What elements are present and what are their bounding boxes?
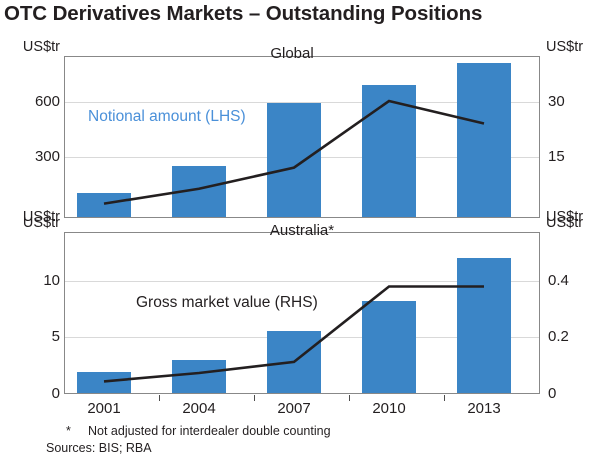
page-title: OTC Derivatives Markets – Outstanding Po… — [4, 2, 598, 26]
xtick-2004: 2004 — [159, 400, 239, 417]
top-panel-right-unit: US$tr — [546, 39, 600, 55]
bottom-panel-left-tick-0: 0 — [4, 385, 60, 402]
top-panel-left-tick-600: 600 — [4, 93, 60, 110]
footnote-marker: * — [66, 424, 71, 438]
bottom-panel-right-tick-02: 0.2 — [548, 328, 598, 345]
bottom-panel-left-unit: US$tr — [4, 215, 60, 231]
global-panel-frame — [64, 56, 540, 218]
xtick-2010: 2010 — [349, 400, 429, 417]
chart-figure: OTC Derivatives Markets – Outstanding Po… — [0, 0, 600, 465]
notional-amount-legend-label: Notional amount (LHS) — [88, 108, 246, 126]
gross-market-value-legend-label: Gross market value (RHS) — [136, 294, 318, 312]
bottom-panel-left-tick-10: 10 — [4, 272, 60, 289]
bottom-panel-right-tick-0: 0 — [548, 385, 598, 402]
australia-panel-title: Australia* — [232, 222, 372, 239]
sources-text: Sources: BIS; RBA — [46, 441, 152, 455]
xtick-2013: 2013 — [444, 400, 524, 417]
footnote-text: Not adjusted for interdealer double coun… — [88, 424, 331, 438]
top-panel-right-tick-15: 15 — [548, 148, 598, 165]
xtick-2001: 2001 — [64, 400, 144, 417]
top-panel-left-tick-300: 300 — [4, 148, 60, 165]
top-panel-left-unit: US$tr — [4, 39, 60, 55]
australia-panel-frame — [64, 232, 540, 394]
australia-panel — [64, 232, 540, 394]
bottom-panel-left-tick-5: 5 — [4, 328, 60, 345]
bottom-panel-right-unit: US$tr — [546, 215, 600, 231]
global-panel-title: Global — [232, 45, 352, 62]
bottom-panel-right-tick-04: 0.4 — [548, 272, 598, 289]
top-panel-right-tick-30: 30 — [548, 93, 598, 110]
global-panel — [64, 56, 540, 218]
xtick-2007: 2007 — [254, 400, 334, 417]
